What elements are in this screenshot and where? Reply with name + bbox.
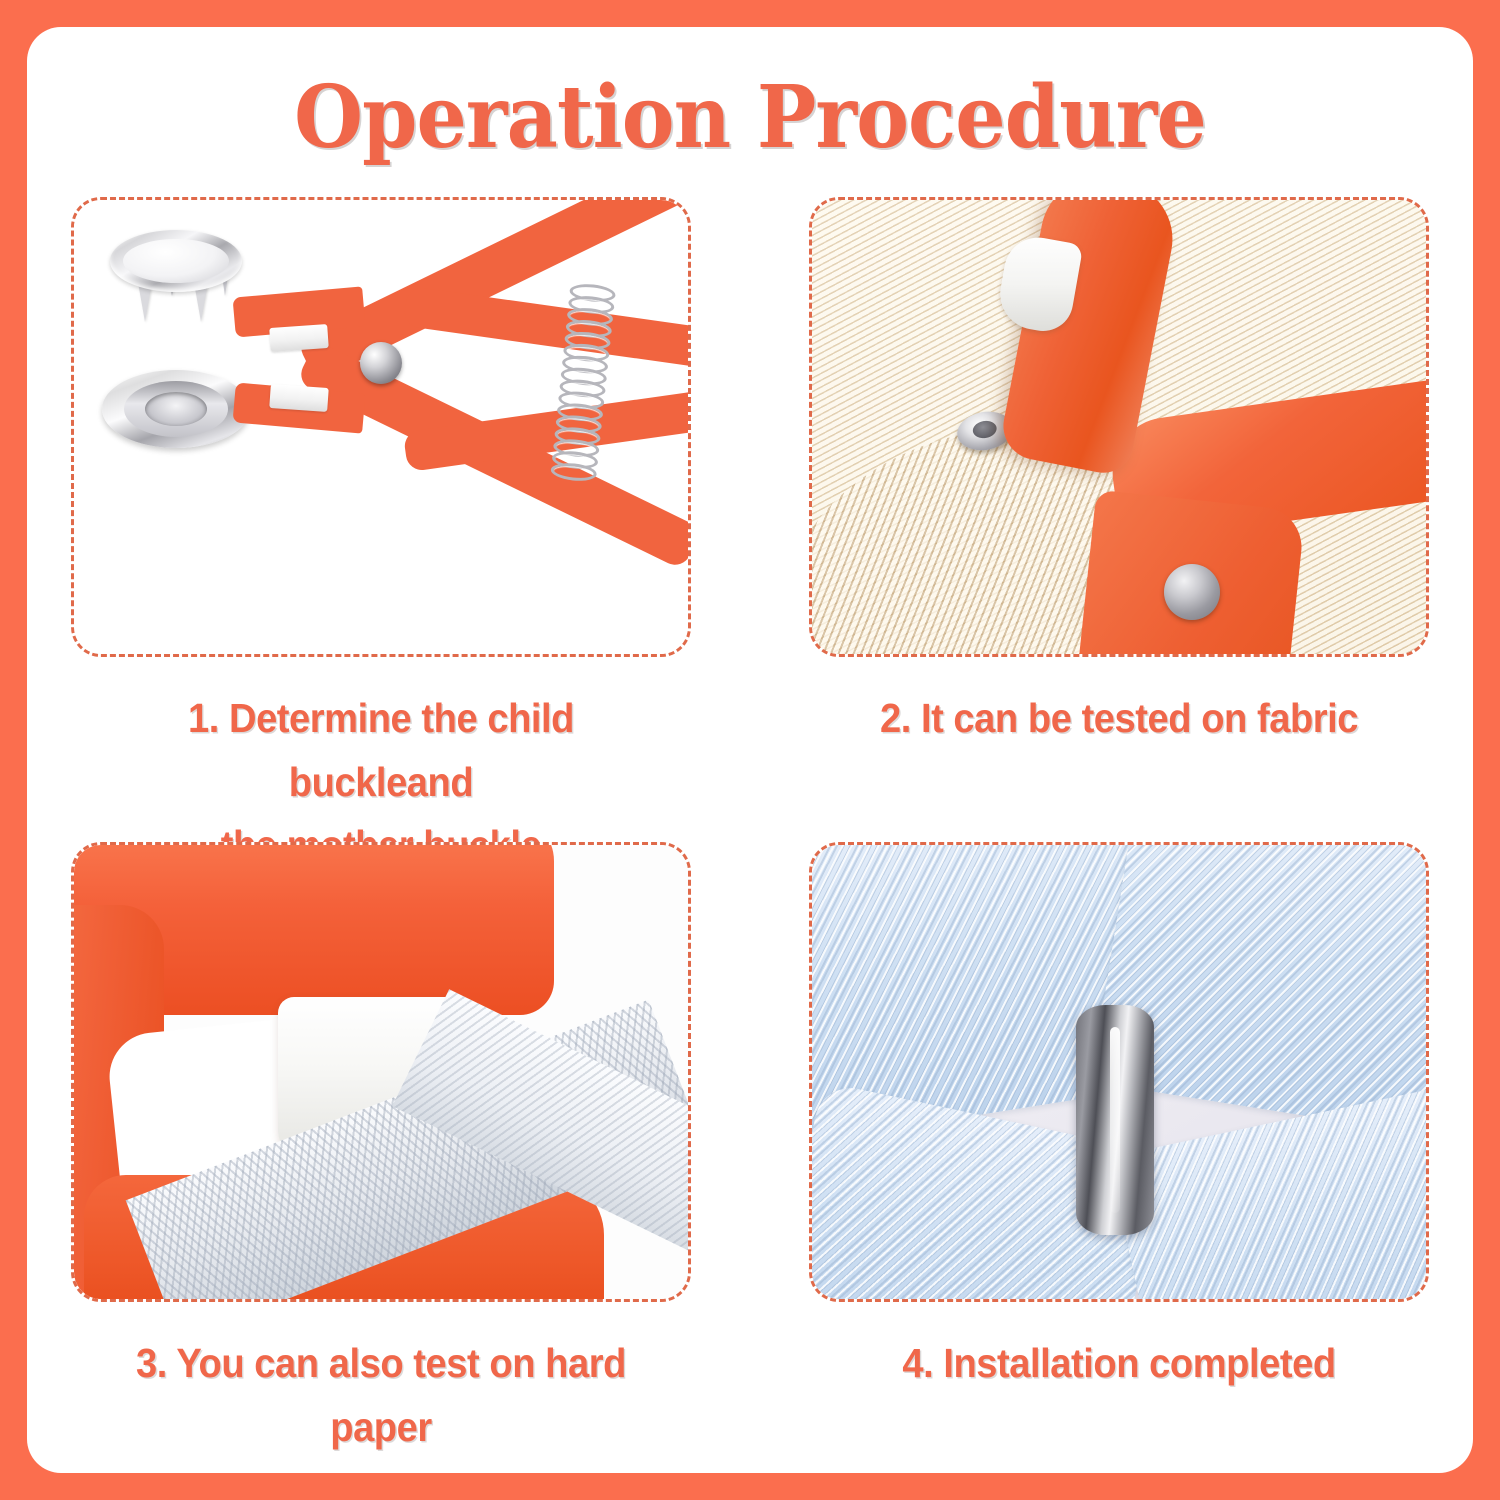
step-2-caption: 2. It can be tested on fabric [831,687,1408,751]
step-1-caption-line-1: 1. Determine the child buckleand [93,687,670,814]
snap-highlight [1110,1027,1120,1213]
step-2: 2. It can be tested on fabric [809,197,1429,751]
white-sheet: Operation Procedure [27,27,1473,1473]
orange-frame: Operation Procedure [0,0,1500,1500]
testing-on-hard-paper-photo [74,845,688,1299]
step-4: 4. Installation completed [809,842,1429,1396]
prong-ring-rim [110,230,242,292]
pliers-and-buckle-illustration [74,200,688,654]
step-3-caption: 3. You can also test on hard paper [93,1332,670,1459]
step-1-image-panel [71,197,691,657]
plier-rivet-icon [1164,564,1220,620]
page-title: Operation Procedure [85,75,1415,161]
socket-buckle-part [102,370,250,448]
prong-ring-part [110,230,242,340]
testing-on-fabric-photo [812,200,1426,654]
step-1: 1. Determine the child buckleand the mot… [71,197,691,878]
step-3: 3. You can also test on hard paper [71,842,691,1459]
step-3-image-panel [71,842,691,1302]
plier-white-tip-lower [269,384,329,412]
step-4-caption: 4. Installation completed [831,1332,1408,1396]
step-2-image-panel [809,197,1429,657]
step-3-caption-line-1: 3. You can also test on hard paper [93,1332,670,1459]
step-4-image-panel [809,842,1429,1302]
plier-handle-upper-rear [403,286,688,370]
blue-strap-bottom-right [1109,1078,1426,1299]
step-2-caption-line-1: 2. It can be tested on fabric [831,687,1408,751]
installation-completed-photo [812,845,1426,1299]
steps-grid: 1. Determine the child buckleand the mot… [71,197,1429,1447]
plier-rivet-icon [360,342,402,384]
plier-white-tip-upper [269,324,329,352]
step-4-caption-line-1: 4. Installation completed [831,1332,1408,1396]
